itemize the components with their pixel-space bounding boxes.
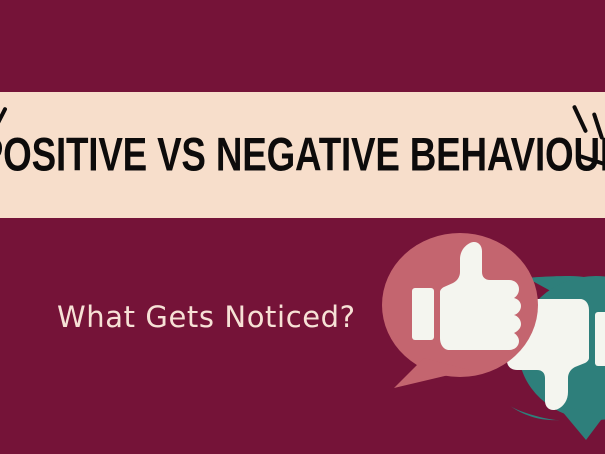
- page-subtitle: What Gets Noticed?: [57, 300, 356, 334]
- slide-canvas: POSITIVE VS NEGATIVE BEHAVIOUR What Gets…: [0, 0, 605, 454]
- negative-speech-bubble: [505, 276, 605, 440]
- speech-bubble-group: [0, 0, 605, 454]
- thumbs-up-icon: [412, 242, 521, 350]
- thumbs-down-icon: [505, 299, 605, 410]
- title-banner: POSITIVE VS NEGATIVE BEHAVIOUR: [0, 92, 605, 218]
- positive-speech-bubble: [382, 233, 538, 388]
- page-title: POSITIVE VS NEGATIVE BEHAVIOUR: [24, 92, 581, 218]
